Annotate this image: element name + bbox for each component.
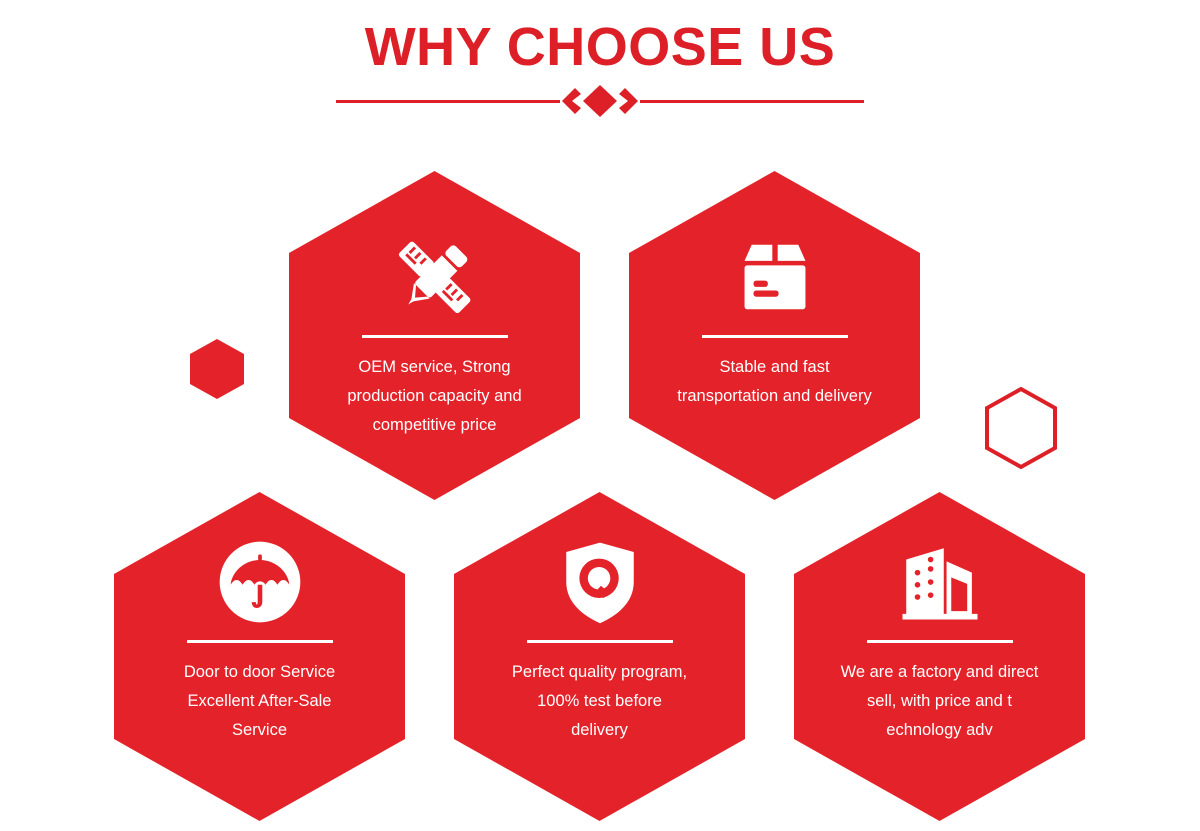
feature-card-transportation[interactable]: Stable and fast transportation and deliv… (629, 171, 920, 500)
feature-card-quality-program[interactable]: Perfect quality program, 100% test befor… (454, 492, 745, 821)
umbrella-icon (212, 534, 308, 630)
feature-card-door-to-door-service[interactable]: Door to door Service Excellent After-Sal… (114, 492, 405, 821)
card-text: Stable and fast transportation and deliv… (659, 353, 891, 411)
card-text: Door to door Service Excellent After-Sal… (144, 658, 376, 745)
factory-building-icon (892, 534, 988, 630)
card-text: We are a factory and direct sell, with p… (824, 658, 1056, 745)
card-rule (362, 335, 508, 338)
why-choose-us-section: WHY CHOOSE US (0, 0, 1200, 831)
card-rule (187, 640, 333, 643)
feature-hexagon-grid: OEM service, Strong production capacity … (0, 0, 1200, 831)
package-box-icon (727, 229, 823, 325)
pencil-ruler-icon (387, 229, 483, 325)
card-rule (702, 335, 848, 338)
feature-card-factory-direct[interactable]: We are a factory and direct sell, with p… (794, 492, 1085, 821)
feature-card-oem-service[interactable]: OEM service, Strong production capacity … (289, 171, 580, 500)
card-text: OEM service, Strong production capacity … (319, 353, 551, 440)
shield-quality-icon (552, 534, 648, 630)
card-rule (527, 640, 673, 643)
card-text: Perfect quality program, 100% test befor… (484, 658, 716, 745)
card-rule (867, 640, 1013, 643)
